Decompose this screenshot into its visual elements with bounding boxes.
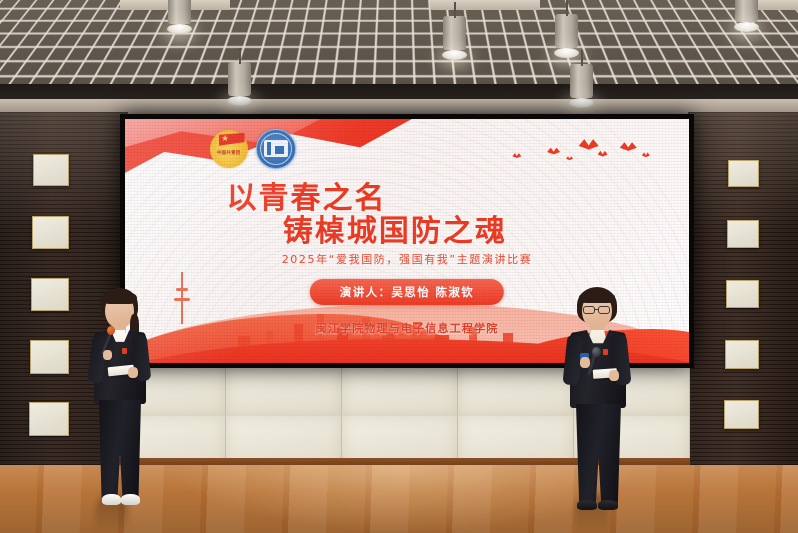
left-shoe <box>577 500 597 510</box>
lamp-glow <box>734 22 759 32</box>
trousers <box>576 404 621 504</box>
pendant-lamp <box>228 62 251 106</box>
lamp-body <box>555 14 578 48</box>
speaker-names-badge: 演讲人：吴思怡 陈淑钦 <box>310 279 504 305</box>
auditorium-scene: 中国共青团 以青春之名 铸槕城国防之魂 2025年“爱我国防，强国有我”主题演讲… <box>0 0 798 533</box>
pendant-lamp <box>570 64 593 108</box>
lamp-glow <box>442 50 467 60</box>
slide-title-line-2: 铸槕城国防之魂 <box>283 206 507 250</box>
lamp-body <box>228 62 251 96</box>
glasses-right-lens-icon <box>598 306 610 314</box>
acoustic-panel <box>33 154 69 186</box>
ceiling <box>0 0 798 118</box>
lamp-body <box>168 0 191 24</box>
pendant-lamp <box>443 16 466 60</box>
hair-front <box>579 291 615 303</box>
speaker-right <box>553 287 645 519</box>
right-shoe <box>598 500 618 510</box>
pendant-lamp <box>555 14 578 58</box>
left-hand <box>103 350 112 360</box>
lamp-body <box>570 64 593 98</box>
right-hand <box>128 367 138 378</box>
microphone-head <box>592 347 601 357</box>
lamp-rod <box>454 2 456 18</box>
speaker-left <box>78 288 164 516</box>
glasses-left-lens-icon <box>583 306 595 314</box>
lamp-body <box>443 16 466 50</box>
lamp-rod <box>566 0 568 16</box>
acoustic-panel <box>32 216 69 249</box>
microphone-head <box>107 326 115 335</box>
lamp-glow <box>227 96 252 106</box>
trousers <box>99 400 141 498</box>
acoustic-panel <box>724 400 759 429</box>
lamp-glow <box>569 98 594 108</box>
lamp-rod <box>581 50 583 66</box>
acoustic-panel <box>30 340 69 374</box>
lamp-rod <box>239 48 241 64</box>
ceiling-shadow-band <box>0 84 798 100</box>
acoustic-panel <box>727 220 759 248</box>
lamp-glow <box>167 24 192 34</box>
stage-panel <box>342 364 458 416</box>
lamp-glow <box>554 48 579 58</box>
ceiling-beam <box>430 0 540 10</box>
left-hand <box>580 357 590 368</box>
glasses-bridge <box>595 309 598 310</box>
pendant-lamp <box>735 0 758 32</box>
acoustic-panel <box>726 280 759 308</box>
right-hand <box>609 370 619 381</box>
acoustic-panel <box>728 160 759 187</box>
stage-panel <box>226 364 342 416</box>
lapel-badge <box>122 348 127 354</box>
pendant-lamp <box>168 0 191 34</box>
lapel-badge <box>603 349 608 355</box>
slide-subtitle: 2025年“爱我国防，强国有我”主题演讲比赛 <box>125 251 689 267</box>
acoustic-panel <box>31 278 69 311</box>
acoustic-panel <box>29 402 69 436</box>
right-shoe <box>121 494 140 505</box>
hair-front <box>102 291 137 304</box>
acoustic-panel <box>725 340 759 369</box>
lamp-body <box>735 0 758 22</box>
left-shoe <box>102 494 121 505</box>
